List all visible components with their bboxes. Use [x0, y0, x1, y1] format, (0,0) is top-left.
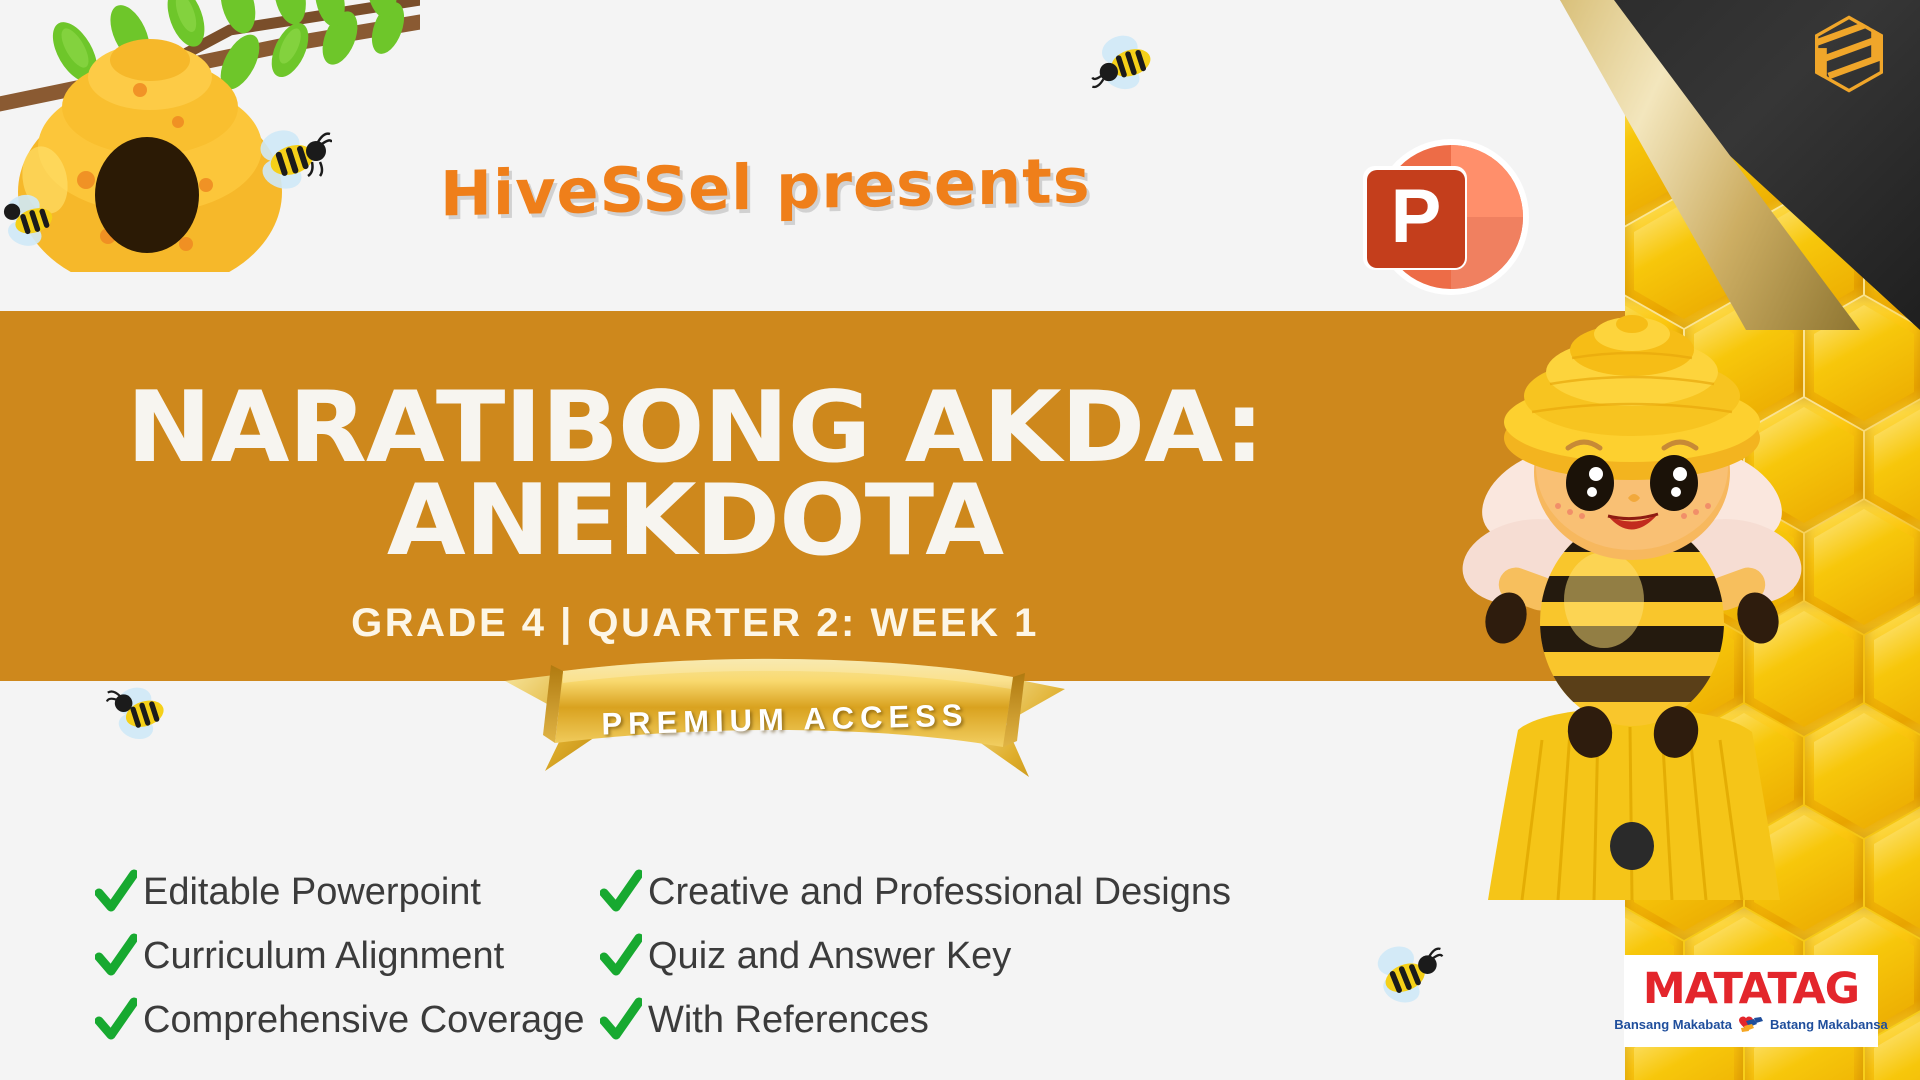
feature-label: With References — [648, 999, 929, 1042]
hive-hexagon-logo-icon — [1812, 14, 1886, 94]
poster-canvas: HiveSSel presents P NARATIBONG AKDA: ANE… — [0, 0, 1920, 1080]
page-tagline: HiveSSel presents — [440, 147, 960, 248]
feature-label: Comprehensive Coverage — [143, 999, 584, 1042]
feature-label: Quiz and Answer Key — [648, 935, 1011, 978]
feature-label: Editable Powerpoint — [143, 871, 481, 914]
bee-icon — [106, 680, 180, 744]
feature-item: Comprehensive Coverage — [95, 988, 615, 1052]
feature-item: With References — [600, 988, 1300, 1052]
check-icon — [600, 933, 642, 979]
svg-text:P: P — [1391, 174, 1442, 259]
features-column-left: Editable Powerpoint Curriculum Alignment… — [95, 860, 615, 1052]
check-icon — [95, 997, 137, 1043]
feature-item: Creative and Professional Designs — [600, 860, 1300, 924]
beehive-branch-illustration — [0, 0, 420, 272]
clasped-hands-heart-icon — [1736, 1014, 1766, 1034]
page-title-line1: NARATIBONG AKDA: — [0, 382, 1418, 475]
bee-icon — [0, 186, 70, 252]
page-subtitle: GRADE 4 | QUARTER 2: WEEK 1 — [0, 601, 1390, 646]
bee-icon — [1090, 28, 1168, 94]
matatag-logo: MATATAG Bansang Makabata Batang Makabans… — [1624, 955, 1878, 1047]
feature-item: Editable Powerpoint — [95, 860, 615, 924]
check-icon — [95, 933, 137, 979]
bee-icon — [1368, 940, 1446, 1008]
matatag-tagline-right: Batang Makabansa — [1770, 1017, 1888, 1032]
check-icon — [95, 869, 137, 915]
feature-item: Curriculum Alignment — [95, 924, 615, 988]
page-title: NARATIBONG AKDA: ANEKDOTA — [0, 382, 1418, 568]
matatag-wordmark: MATATAG — [1643, 968, 1859, 1011]
feature-label: Curriculum Alignment — [143, 935, 504, 978]
matatag-tagline: Bansang Makabata Batang Makabansa — [1614, 1014, 1888, 1034]
features-column-right: Creative and Professional Designs Quiz a… — [600, 860, 1300, 1052]
bee-icon — [248, 122, 332, 194]
page-title-line2: ANEKDOTA — [0, 475, 1418, 568]
check-icon — [600, 869, 642, 915]
premium-access-ribbon: PREMIUM ACCESS — [505, 655, 1065, 780]
check-icon — [600, 997, 642, 1043]
feature-label: Creative and Professional Designs — [648, 871, 1231, 914]
matatag-tagline-left: Bansang Makabata — [1614, 1017, 1732, 1032]
powerpoint-icon: P — [1345, 132, 1540, 302]
feature-item: Quiz and Answer Key — [600, 924, 1300, 988]
